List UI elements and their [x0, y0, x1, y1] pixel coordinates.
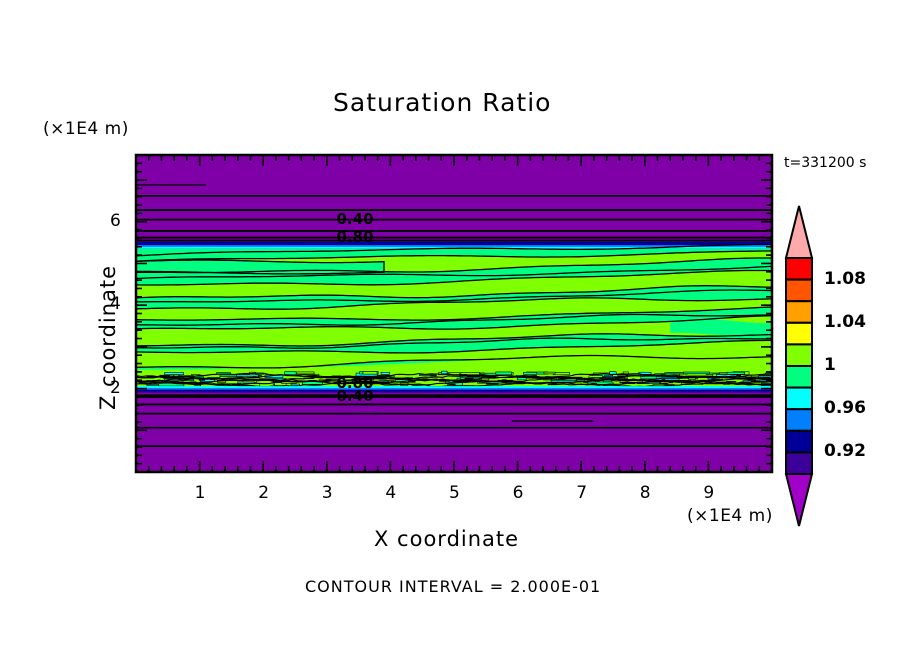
colorbar-tick-label: 0.96 — [824, 398, 866, 418]
x-tick-label: 5 — [449, 483, 460, 503]
contour-plot-figure: Saturation Ratio (×1E4 m) t=331200 s Z c… — [0, 0, 904, 654]
contour-label: 0.40 — [337, 210, 374, 228]
x-tick-label: 9 — [703, 483, 714, 503]
colorbar-tick-label: 0.92 — [824, 441, 866, 461]
x-tick-label: 4 — [385, 483, 396, 503]
y-tick-label: 4 — [110, 294, 121, 314]
y-tick-label: 2 — [110, 378, 121, 398]
x-tick-label: 2 — [258, 483, 269, 503]
colorbar-tick-label: 1.04 — [824, 312, 866, 332]
x-tick-label: 1 — [195, 483, 206, 503]
contour-label: 0.80 — [337, 228, 374, 246]
colorbar-tick-label: 1 — [824, 355, 836, 375]
x-tick-label: 3 — [322, 483, 333, 503]
contour-plot-canvas — [0, 0, 904, 654]
colorbar-tick-label: 1.08 — [824, 269, 866, 289]
x-tick-label: 8 — [640, 483, 651, 503]
x-tick-label: 6 — [513, 483, 524, 503]
colorbar — [786, 206, 812, 526]
contour-label: 0.40 — [337, 387, 374, 405]
contour-field — [136, 155, 786, 472]
y-tick-label: 6 — [110, 211, 121, 231]
x-tick-label: 7 — [576, 483, 587, 503]
